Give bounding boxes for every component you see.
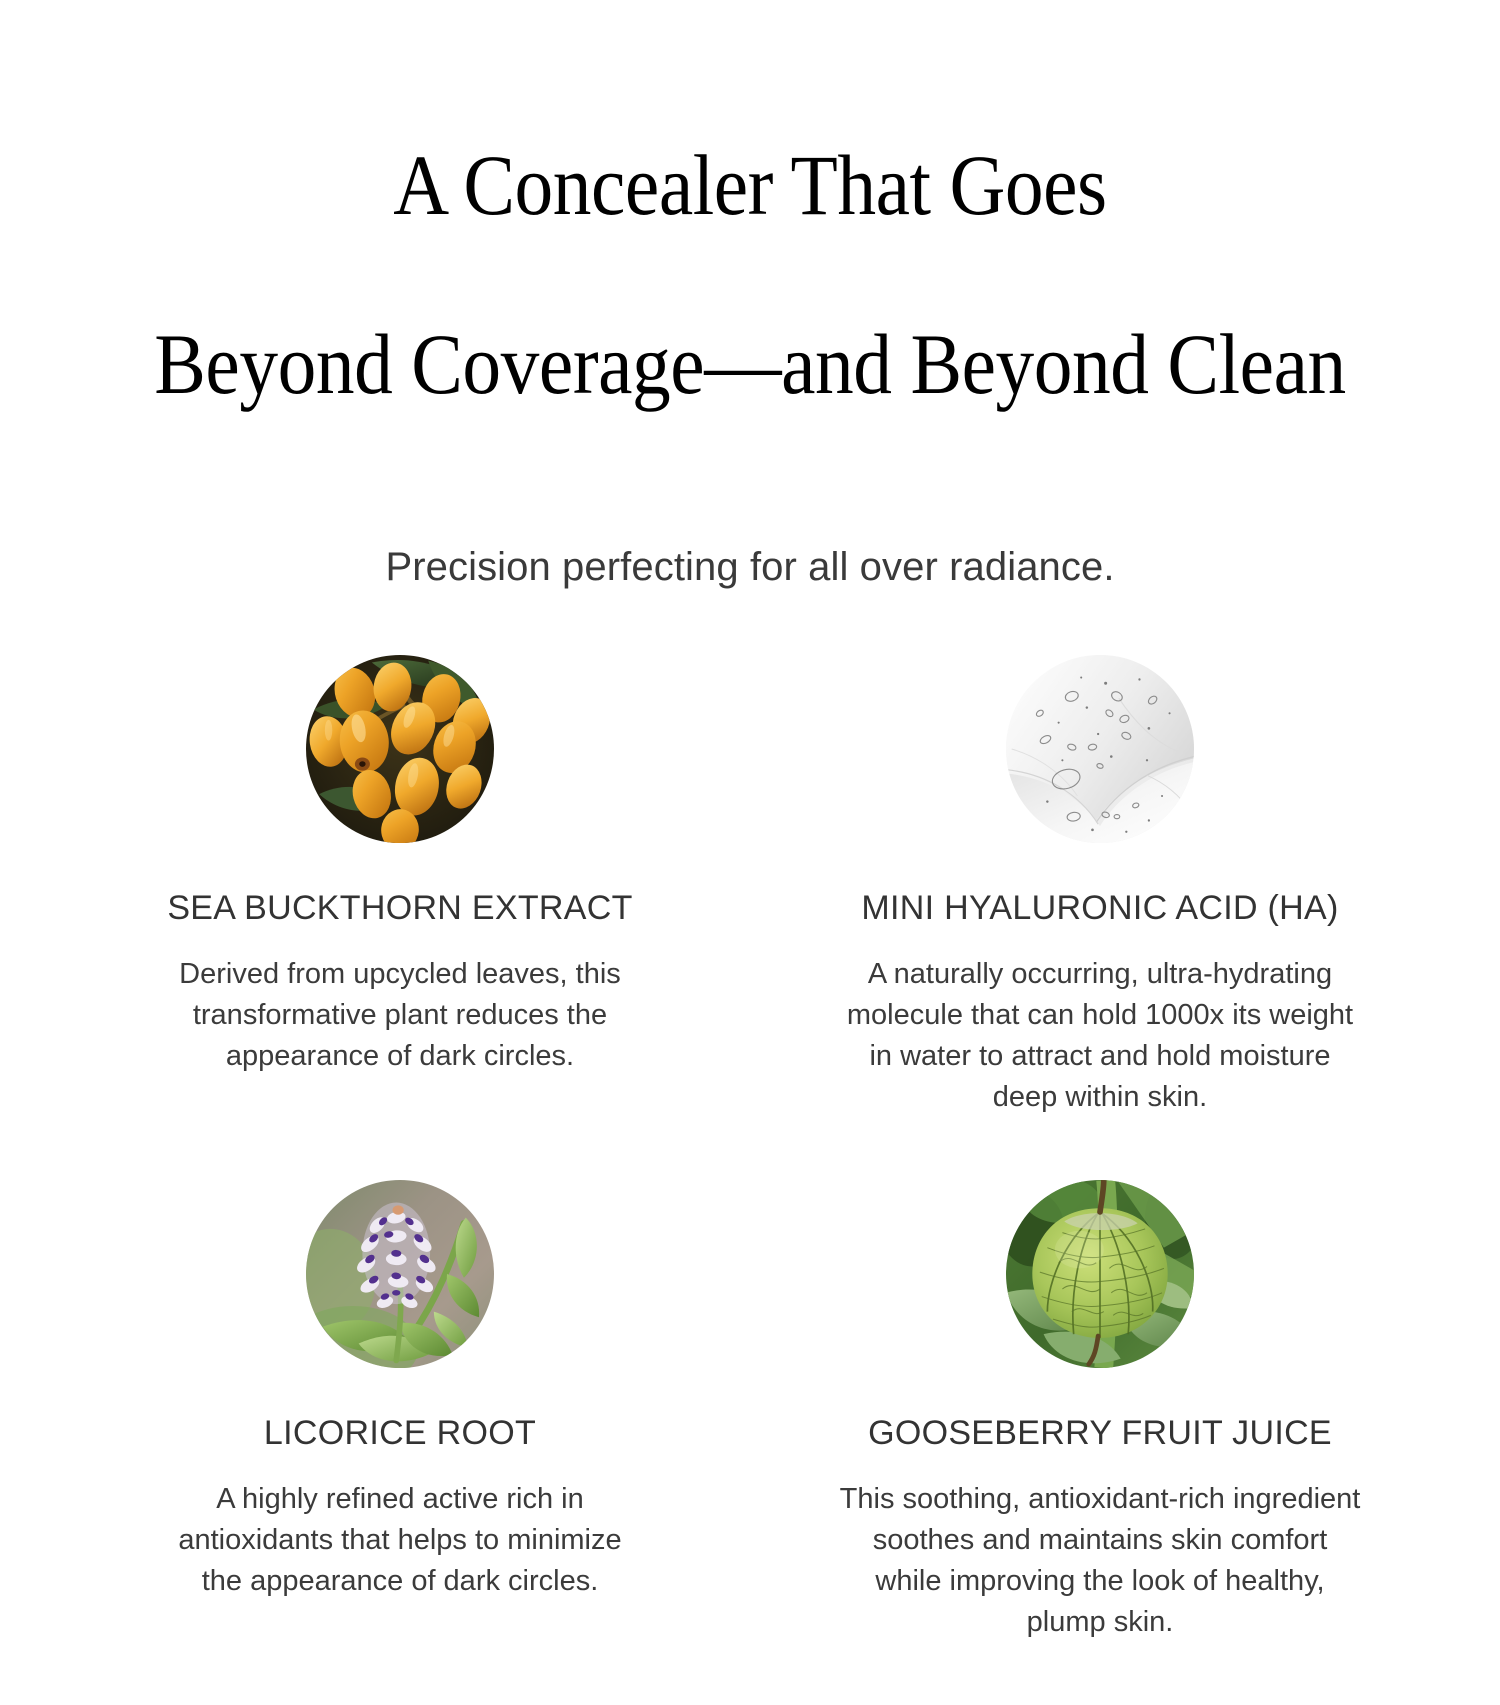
ingredient-card-licorice-root: LICORICE ROOT A highly refined active ri… [50,1180,750,1705]
ingredient-title: SEA BUCKTHORN EXTRACT [167,890,632,927]
headline-line-1: A Concealer That Goes [75,141,1425,230]
ingredient-card-gooseberry: GOOSEBERRY FRUIT JUICE This soothing, an… [750,1180,1450,1705]
sea-buckthorn-berries-photo [306,655,494,843]
headline-line-2: Beyond Coverage—and Beyond Clean [75,320,1425,409]
ingredient-card-sea-buckthorn: SEA BUCKTHORN EXTRACT Derived from upcyc… [50,655,750,1180]
licorice-root-flower-photo [306,1180,494,1368]
ingredient-card-hyaluronic-acid: MINI HYALURONIC ACID (HA) A naturally oc… [750,655,1450,1180]
ingredient-description: A naturally occurring, ultra-hydrating m… [847,954,1353,1119]
gooseberry-husk-photo [1006,1180,1194,1368]
ingredient-description: This soothing, antioxidant-rich ingredie… [840,1479,1361,1644]
ingredient-grid: SEA BUCKTHORN EXTRACT Derived from upcyc… [50,655,1450,1705]
ingredient-title: LICORICE ROOT [264,1415,536,1452]
page-title: A Concealer That Goes Beyond Coverage—an… [75,52,1425,499]
ingredient-description: A highly refined active rich in antioxid… [178,1479,621,1603]
ingredient-title: MINI HYALURONIC ACID (HA) [861,890,1338,927]
ingredient-benefits-page: A Concealer That Goes Beyond Coverage—an… [0,0,1500,1500]
page-header: A Concealer That Goes Beyond Coverage—an… [0,0,1500,591]
page-subtitle: Precision perfecting for all over radian… [0,543,1500,591]
hyaluronic-acid-gel-texture-photo [1006,655,1194,843]
ingredient-title: GOOSEBERRY FRUIT JUICE [868,1415,1332,1452]
ingredient-description: Derived from upcycled leaves, this trans… [179,954,621,1078]
